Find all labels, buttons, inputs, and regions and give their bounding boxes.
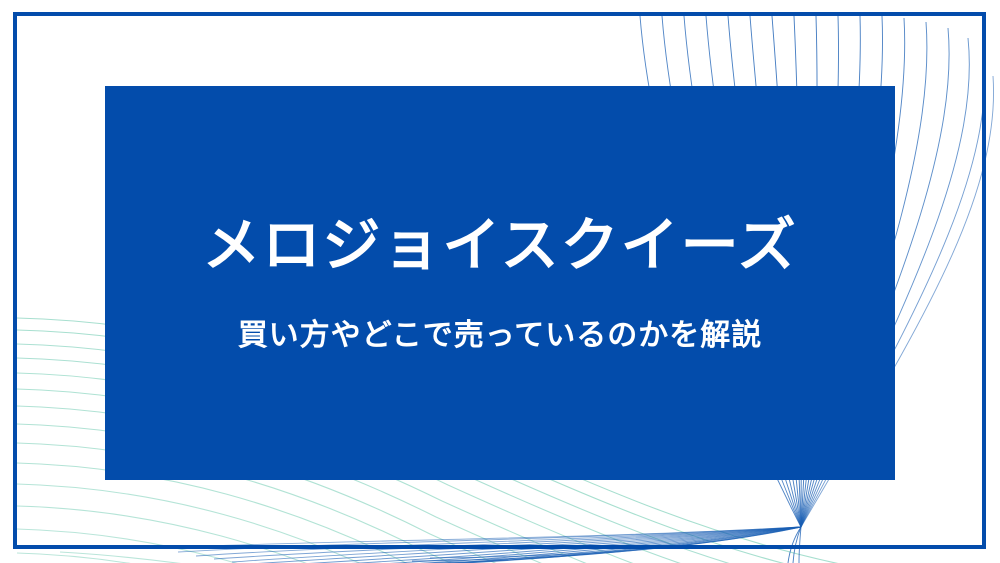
thumbnail-canvas: メロジョイスクイーズ 買い方やどこで売っているのかを解説 <box>0 0 1000 563</box>
page-subtitle: 買い方やどこで売っているのかを解説 <box>238 316 763 355</box>
headline-panel: メロジョイスクイーズ 買い方やどこで売っているのかを解説 <box>105 86 895 480</box>
page-title: メロジョイスクイーズ <box>202 211 797 282</box>
